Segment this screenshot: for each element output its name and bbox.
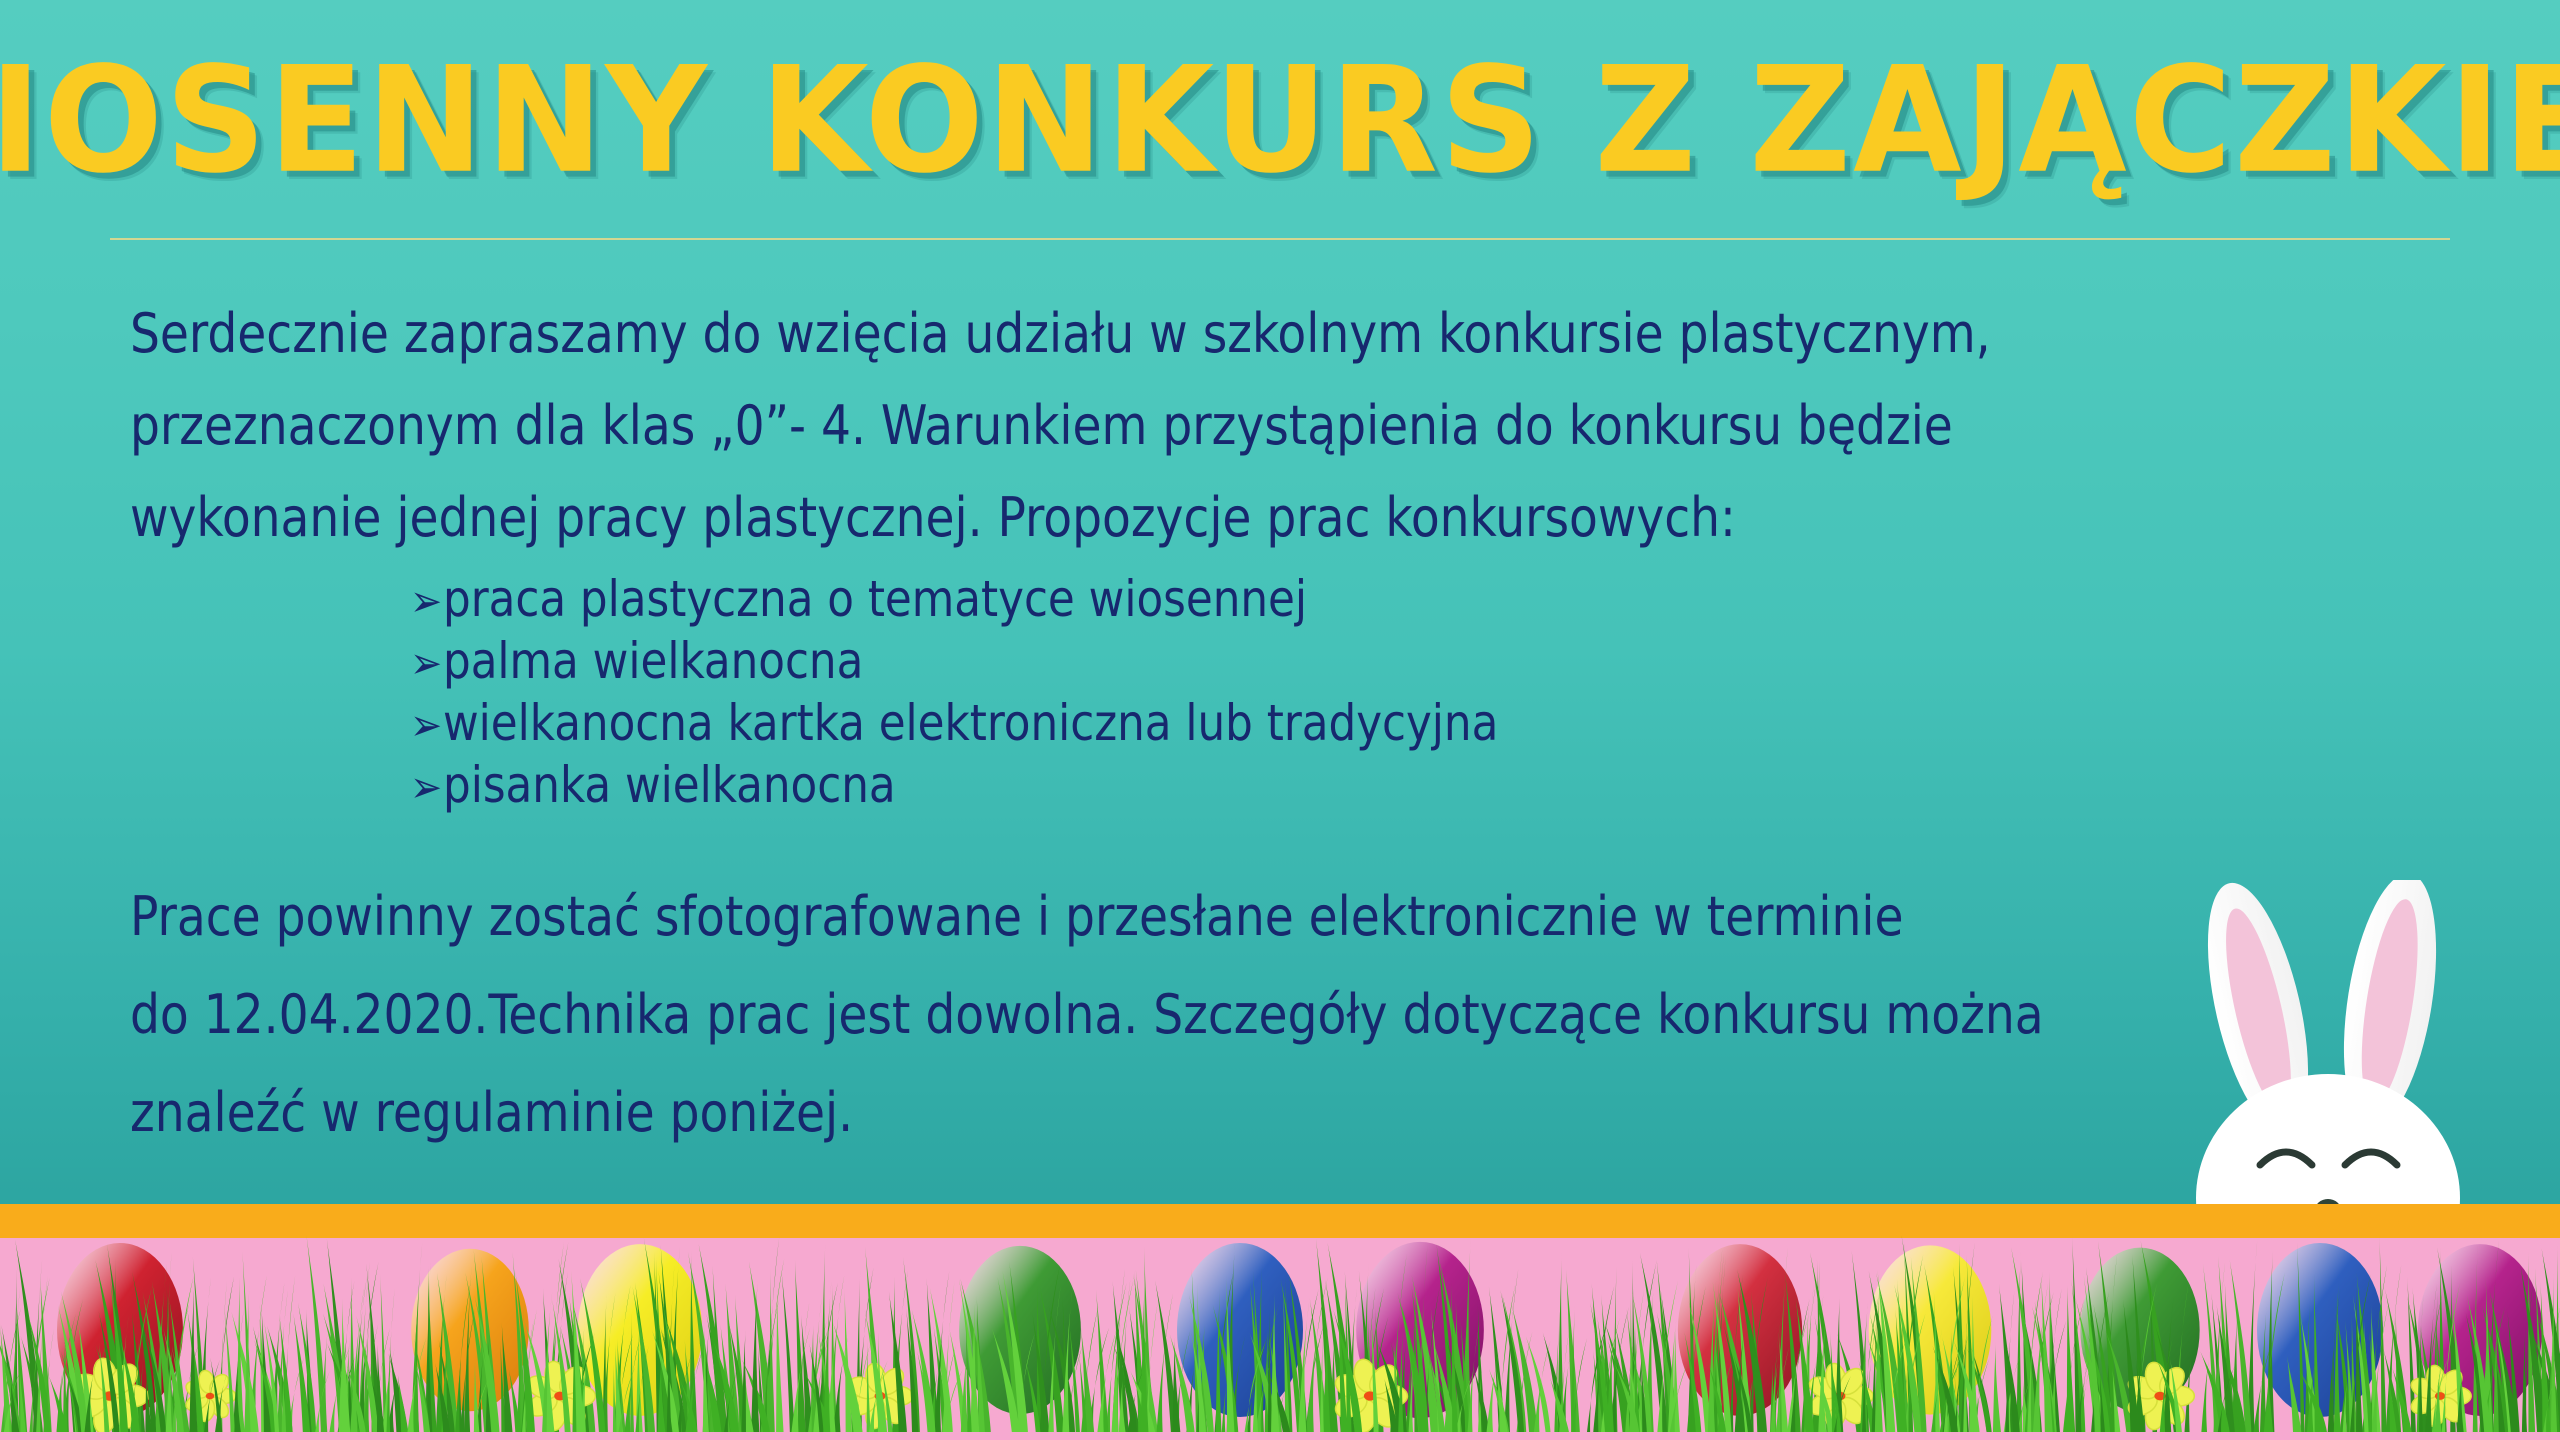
list-item-label: palma wielkanocna [443, 630, 863, 692]
daisy-center [2435, 1392, 2445, 1400]
poster-canvas: WIOSENNY KONKURS Z ZAJĄCZKIEM Serdecznie… [0, 0, 2560, 1440]
intro-line-3: wykonanie jednej pracy plastycznej. Prop… [130, 472, 2313, 564]
intro-line-1: Serdecznie zapraszamy do wzięcia udziału… [130, 288, 2313, 380]
arrow-bullet-icon: ➢ [410, 757, 443, 819]
grass-blade [781, 1271, 794, 1440]
intro-paragraph: Serdecznie zapraszamy do wzięcia udziału… [130, 288, 2380, 564]
grass-blade [770, 1267, 775, 1440]
grass-blade [906, 1308, 919, 1440]
closing-line-1: Prace powinny zostać sfotografowane i pr… [130, 868, 2313, 966]
closing-paragraph: Prace powinny zostać sfotografowane i pr… [130, 868, 2380, 1162]
arrow-bullet-icon: ➢ [410, 571, 443, 633]
intro-line-2: przeznaczonym dla klas „0”- 4. Warunkiem… [130, 380, 2313, 472]
daisy-center [206, 1393, 215, 1400]
scenery-base [0, 1432, 2560, 1440]
grass-blade [224, 1308, 235, 1440]
list-item-label: pisanka wielkanocna [443, 754, 896, 816]
list-item: ➢ palma wielkanocna [410, 630, 2321, 692]
closing-line-3: znaleźć w regulaminie poniżej. [130, 1064, 2313, 1162]
title-block: WIOSENNY KONKURS Z ZAJĄCZKIEM [0, 48, 2560, 172]
title-divider [110, 238, 2450, 240]
list-item-label: praca plastyczna o tematyce wiosennej [443, 568, 1307, 630]
grass-blade [2407, 1277, 2416, 1440]
grass-blade [776, 1286, 784, 1440]
competition-options-list: ➢ praca plastyczna o tematyce wiosennej … [410, 568, 2380, 816]
grass-blade [1993, 1341, 2002, 1440]
poster-body: Serdecznie zapraszamy do wzięcia udziału… [130, 288, 2380, 1162]
page-title: WIOSENNY KONKURS Z ZAJĄCZKIEM [0, 48, 2560, 194]
grass-blade [845, 1288, 853, 1440]
arrow-bullet-icon: ➢ [410, 695, 443, 757]
list-item: ➢ wielkanocna kartka elektroniczna lub t… [410, 692, 2321, 754]
grass-and-eggs [0, 1210, 2560, 1440]
easter-scenery-band [0, 1180, 2560, 1440]
list-item: ➢ praca plastyczna o tematyce wiosennej [410, 568, 2321, 630]
list-item: ➢ pisanka wielkanocna [410, 754, 2321, 816]
arrow-bullet-icon: ➢ [410, 633, 443, 695]
grass-blade [2201, 1346, 2211, 1440]
list-item-label: wielkanocna kartka elektroniczna lub tra… [443, 692, 1498, 754]
closing-line-2: do 12.04.2020.Technika prac jest dowolna… [130, 966, 2313, 1064]
